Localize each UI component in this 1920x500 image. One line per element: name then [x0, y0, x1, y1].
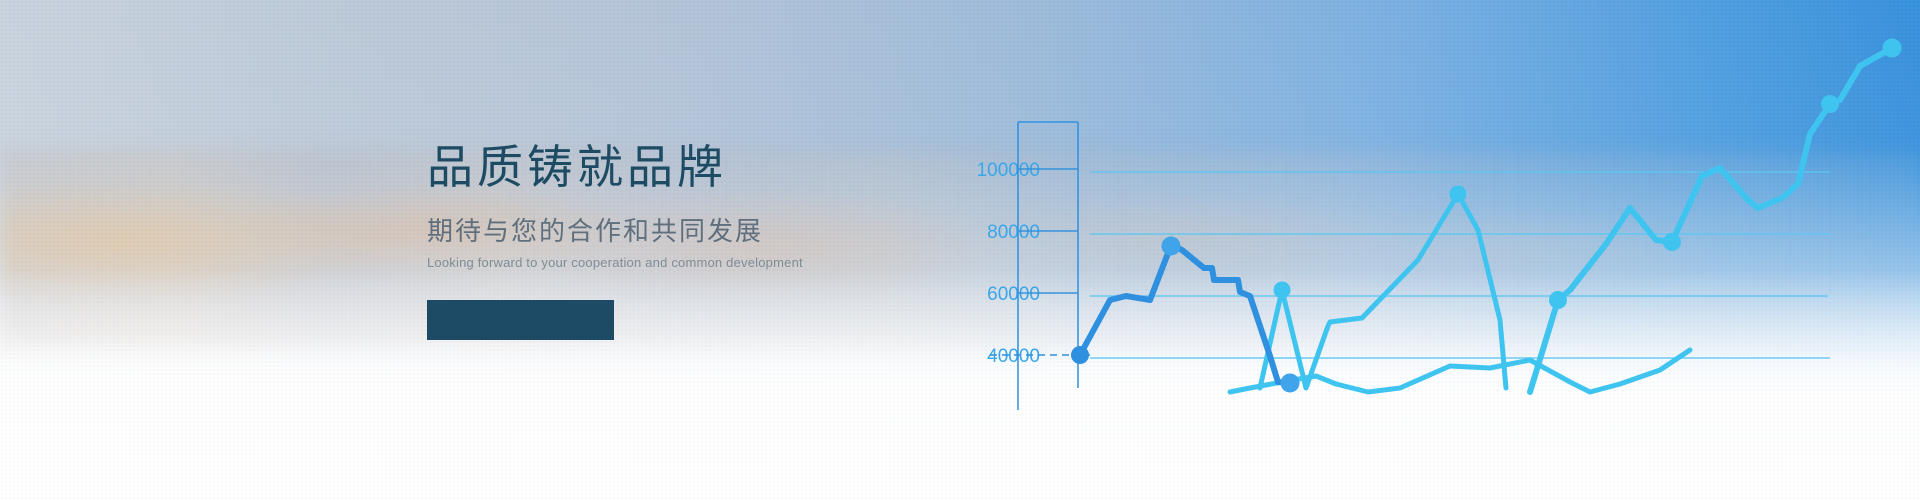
- y-tick-label: 100000: [977, 160, 1040, 181]
- y-tick-label: 60000: [987, 284, 1040, 305]
- banner-subtitle: 期待与您的合作和共同发展: [427, 216, 887, 247]
- data-point-marker[interactable]: [1274, 282, 1291, 299]
- banner-subtitle-english: Looking forward to your cooperation and …: [427, 255, 887, 272]
- data-point-marker[interactable]: [1281, 374, 1300, 393]
- y-tick-label: 80000: [987, 222, 1040, 243]
- data-point-marker[interactable]: [1071, 346, 1089, 364]
- hero-banner: 品质铸就品牌 期待与您的合作和共同发展 Looking forward to y…: [0, 0, 1920, 500]
- learn-more-button[interactable]: [427, 300, 614, 340]
- data-point-marker[interactable]: [1883, 39, 1902, 58]
- banner-copy: 品质铸就品牌 期待与您的合作和共同发展 Looking forward to y…: [427, 140, 887, 340]
- page-title: 品质铸就品牌: [427, 140, 887, 194]
- line-chart: 100000 80000 60000 40000: [930, 0, 1920, 500]
- chart-data-markers: [1071, 39, 1902, 393]
- chart-series-1: [1080, 246, 1290, 383]
- data-point-marker[interactable]: [1549, 291, 1567, 309]
- data-point-marker[interactable]: [1450, 186, 1467, 203]
- data-point-marker[interactable]: [1663, 233, 1681, 251]
- data-point-marker[interactable]: [1162, 237, 1181, 256]
- data-point-marker[interactable]: [1821, 95, 1839, 113]
- y-axis-tick-labels: 100000 80000 60000 40000: [977, 160, 1040, 367]
- chart-series-2: [1260, 194, 1506, 388]
- y-tick-label: 40000: [987, 346, 1040, 367]
